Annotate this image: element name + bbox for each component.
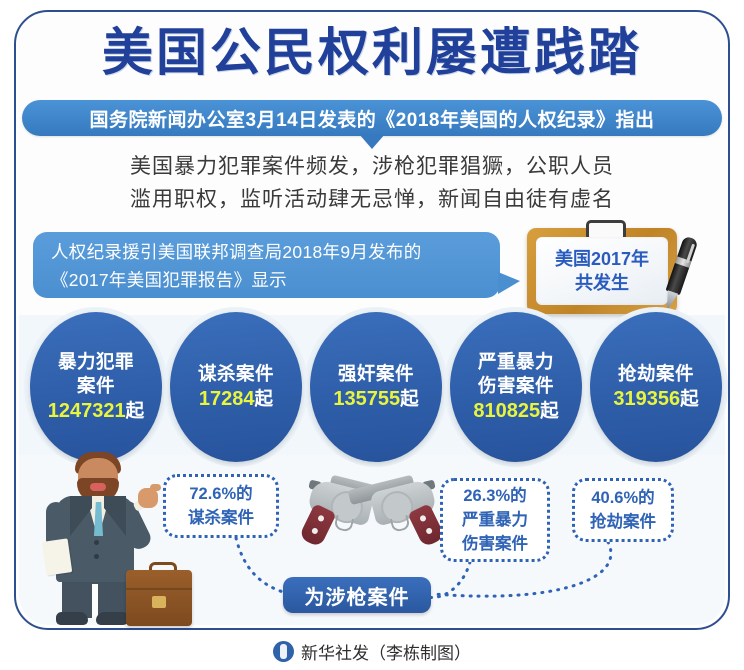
footer-credit: 新华社发（李栋制图） (0, 636, 744, 666)
clipboard-line-2: 共发生 (575, 271, 629, 295)
lead-paragraph: 美国暴力犯罪案件频发，涉枪犯罪猖獗，公职人员 滥用职权，监听活动肆无忌惮，新闻自… (62, 150, 682, 216)
source-banner: 国务院新闻办公室3月14日发表的《2018年美国的人权纪录》指出 (22, 100, 722, 136)
stat-label: 严重暴力 (478, 350, 554, 374)
lead-line-2: 滥用职权，监听活动肆无忌惮，新闻自由徒有虚名 (62, 183, 682, 216)
callout-murder-percent: 72.6%的 谋杀案件 (163, 474, 279, 538)
callout-assault-percent: 26.3%的 严重暴力 伤害案件 (440, 478, 550, 562)
stat-label: 谋杀案件 (198, 362, 274, 386)
man-left-shoe (56, 612, 88, 625)
banner-tail-arrow (359, 134, 385, 149)
source-bubble-line-2: 《2017年美国犯罪报告》显示 (51, 266, 484, 294)
crossed-revolvers-icon (302, 470, 442, 562)
source-speech-bubble: 人权纪录援引美国联邦调查局2018年9月发布的 《2017年美国犯罪报告》显示 (33, 232, 500, 298)
stat-value: 319356起 (613, 386, 698, 412)
briefcase-seam (126, 588, 192, 590)
grip-stud (311, 527, 319, 535)
man-jacket-button (94, 554, 99, 559)
callout-line-1: 26.3%的 (463, 484, 526, 508)
man-pointing-hand (138, 488, 158, 508)
stat-value: 1247321起 (48, 398, 144, 424)
stat-value: 135755起 (333, 386, 418, 412)
stat-label: 案件 (77, 374, 115, 398)
callout-line-3: 伤害案件 (462, 532, 528, 556)
stat-value: 17284起 (199, 386, 273, 412)
statistics-row: 暴力犯罪 案件 1247321起 谋杀案件 17284起 强奸案件 135755… (0, 312, 744, 464)
man-papers (42, 538, 72, 575)
callout-line-2: 严重暴力 (462, 508, 528, 532)
stat-label: 伤害案件 (478, 374, 554, 398)
businessman-illustration (30, 448, 165, 626)
grip-stud (425, 527, 433, 535)
stat-circle-aggravated-assault: 严重暴力 伤害案件 810825起 (450, 312, 582, 462)
callout-robbery-percent: 40.6%的 抢劫案件 (572, 478, 674, 542)
stat-label: 强奸案件 (338, 362, 414, 386)
clipboard-line-1: 美国2017年 (555, 247, 649, 271)
man-leg-gap (92, 584, 98, 618)
stat-circle-robbery: 抢劫案件 319356起 (590, 312, 722, 462)
stat-label: 暴力犯罪 (58, 350, 134, 374)
xinhua-logo-icon (273, 641, 294, 662)
man-right-shoe (96, 612, 128, 625)
revolver-trigger-guard (390, 515, 411, 533)
source-bubble-tail (498, 272, 520, 294)
man-jacket-button (94, 540, 99, 545)
stat-circle-murder: 谋杀案件 17284起 (170, 312, 302, 462)
man-mouth (90, 483, 106, 491)
footer-text: 新华社发（李栋制图） (301, 639, 471, 664)
grip-stud (419, 514, 427, 522)
source-bubble-line-1: 人权纪录援引美国联邦调查局2018年9月发布的 (51, 238, 484, 266)
callout-line-2: 抢劫案件 (590, 510, 656, 534)
lead-line-1: 美国暴力犯罪案件频发，涉枪犯罪猖獗，公职人员 (62, 150, 682, 183)
page-title: 美国公民权利屡遭践踏 (0, 24, 744, 82)
grip-stud (317, 514, 325, 522)
clipboard-page: 美国2017年 共发生 (536, 237, 668, 305)
stat-value: 810825起 (473, 398, 558, 424)
gun-related-pill: 为涉枪案件 (283, 577, 431, 613)
callout-line-2: 谋杀案件 (188, 506, 254, 530)
clipboard-graphic: 美国2017年 共发生 (527, 228, 677, 314)
stat-label: 抢劫案件 (618, 362, 694, 386)
stat-circle-violent-crime: 暴力犯罪 案件 1247321起 (30, 312, 162, 462)
callout-line-1: 40.6%的 (591, 486, 654, 510)
briefcase-lock (152, 596, 166, 608)
man-pointing-finger (150, 484, 161, 491)
infographic-canvas: 美国公民权利屡遭践踏 国务院新闻办公室3月14日发表的《2018年美国的人权纪录… (0, 0, 744, 670)
stat-circle-rape: 强奸案件 135755起 (310, 312, 442, 462)
callout-line-1: 72.6%的 (189, 482, 252, 506)
